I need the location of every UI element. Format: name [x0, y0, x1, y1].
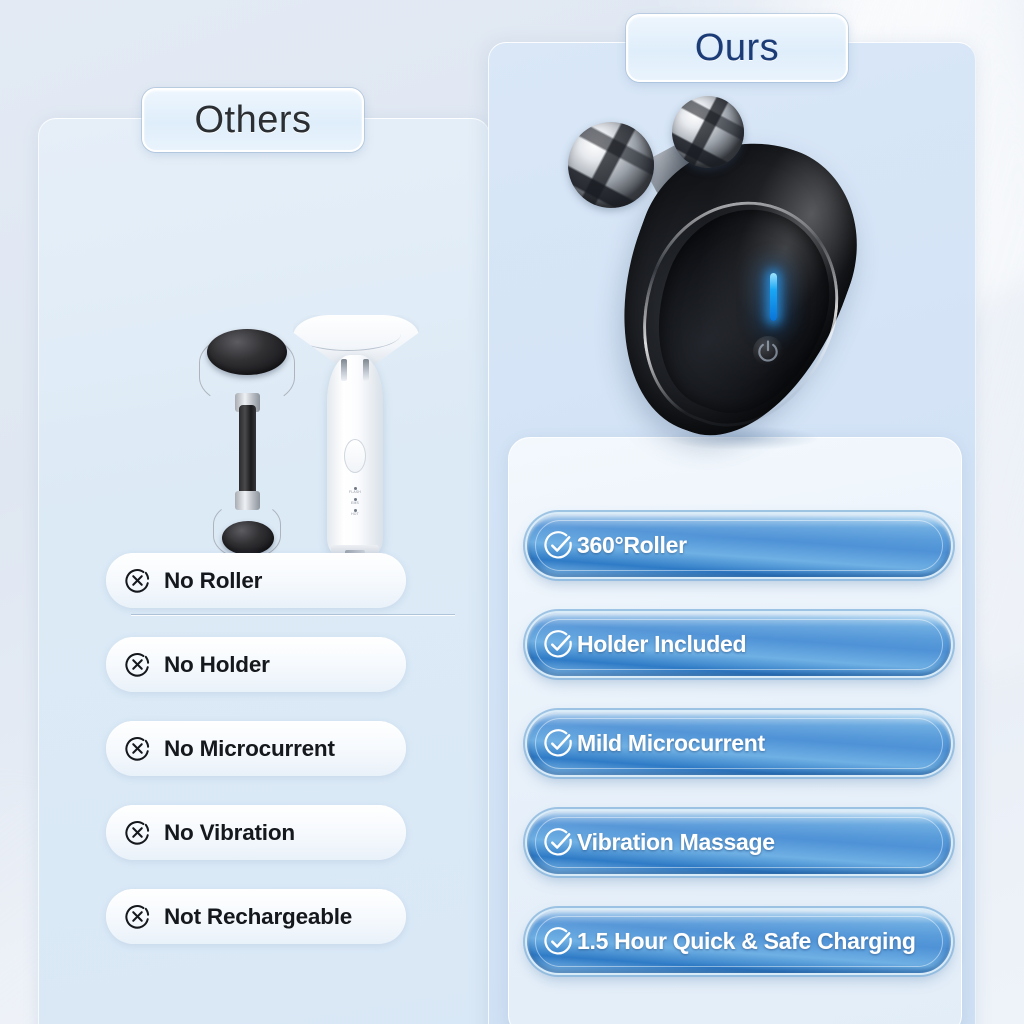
check-circle-icon — [543, 827, 574, 858]
list-item[interactable]: Vibration Massage — [527, 811, 951, 874]
manual-face-roller-icon — [187, 321, 307, 576]
list-item-label: Holder Included — [577, 631, 746, 658]
list-item[interactable]: No Vibration — [106, 805, 406, 860]
others-badge-label: Others — [194, 99, 311, 142]
x-circle-icon — [124, 903, 151, 930]
beauty-device-icon — [548, 96, 908, 446]
ours-badge-label: Ours — [695, 27, 779, 70]
list-item[interactable]: No Microcurrent — [106, 721, 406, 776]
roller-head-large — [207, 329, 287, 375]
list-item-label: 360°Roller — [577, 532, 687, 559]
list-item-label: Mild Microcurrent — [577, 730, 765, 757]
x-circle-icon — [124, 567, 151, 594]
neck-massager-head-seam — [295, 317, 401, 351]
mode-label-flash: FLASH — [349, 490, 361, 494]
list-item[interactable]: 360°Roller — [527, 514, 951, 577]
mode-label-ems: EMS — [351, 501, 359, 505]
power-button-icon[interactable] — [753, 336, 783, 366]
chrome-roller-ball-left — [568, 122, 654, 208]
others-badge[interactable]: Others — [142, 88, 364, 152]
x-circle-icon — [124, 735, 151, 762]
neck-massager-power-button — [344, 439, 366, 473]
ours-badge[interactable]: Ours — [626, 14, 848, 82]
list-item[interactable]: Holder Included — [527, 613, 951, 676]
neck-massager-electrodes — [341, 359, 369, 381]
neck-massager-mode-indicators: FLASH EMS HOT — [343, 487, 367, 520]
roller-head-small — [222, 521, 274, 555]
list-item[interactable]: No Holder — [106, 637, 406, 692]
list-item[interactable]: Mild Microcurrent — [527, 712, 951, 775]
mode-label-hot: HOT — [351, 512, 359, 516]
neck-massager-icon: FLASH EMS HOT — [301, 315, 411, 577]
list-item-label: Vibration Massage — [577, 829, 775, 856]
blue-led-indicator — [770, 273, 777, 321]
comparison-infographic: FLASH EMS HOT No Roller — [0, 0, 1024, 1024]
x-circle-icon — [124, 819, 151, 846]
list-item-label: No Roller — [164, 568, 262, 594]
check-circle-icon — [543, 629, 574, 660]
list-item-label: No Microcurrent — [164, 736, 335, 762]
chrome-roller-ball-right — [672, 96, 744, 168]
roller-handle — [239, 405, 256, 499]
ours-feature-list: 360°Roller Holder Included Mild Microcur… — [527, 514, 951, 1009]
check-circle-icon — [543, 530, 574, 561]
list-item-label: 1.5 Hour Quick & Safe Charging — [577, 928, 916, 955]
x-circle-icon — [124, 651, 151, 678]
list-item[interactable]: Not Rechargeable — [106, 889, 406, 944]
list-item[interactable]: 1.5 Hour Quick & Safe Charging — [527, 910, 951, 973]
roller-ferrule-bottom — [235, 491, 260, 510]
list-item-label: Not Rechargeable — [164, 904, 352, 930]
list-item-label: No Vibration — [164, 820, 295, 846]
check-circle-icon — [543, 728, 574, 759]
list-item[interactable]: No Roller — [106, 553, 406, 608]
check-circle-icon — [543, 926, 574, 957]
others-feature-list: No Roller No Holder No Microcurrent — [106, 553, 406, 973]
list-item-label: No Holder — [164, 652, 270, 678]
